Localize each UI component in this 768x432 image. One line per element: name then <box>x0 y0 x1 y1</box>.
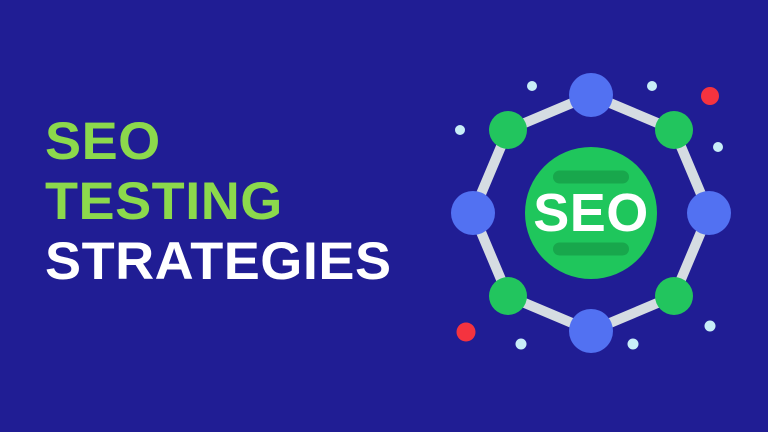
accent-dot-blue-top-right <box>647 81 657 91</box>
accent-dot-blue-right <box>713 142 723 152</box>
node-right <box>687 191 731 235</box>
headline-block: SEO TESTING STRATEGIES <box>45 112 445 292</box>
headline-line-3: STRATEGIES <box>45 232 453 292</box>
headline-line-2: TESTING <box>45 172 453 232</box>
seo-core-bar-top <box>553 171 629 184</box>
node-lower-right <box>655 277 693 315</box>
headline-line-1: SEO <box>45 112 453 172</box>
banner-canvas: SEO TESTING STRATEGIES SEO <box>0 0 768 432</box>
node-lower-left <box>489 277 527 315</box>
accent-dot-blue-bottom-right <box>705 321 716 332</box>
seo-core-group: SEO <box>525 147 657 279</box>
seo-core-bar-bottom <box>553 243 629 256</box>
accent-dot-blue-bottom-mid <box>628 339 639 350</box>
node-upper-right <box>655 111 693 149</box>
seo-network-octagon-illustration: SEO <box>432 54 750 372</box>
accent-dot-blue-bottom-left <box>516 339 527 350</box>
accent-dot-blue-top-left <box>527 81 537 91</box>
accent-dot-red-top-right <box>701 87 719 105</box>
accent-dot-red-bottom-left <box>457 323 476 342</box>
accent-dot-blue-left <box>455 125 465 135</box>
node-upper-left <box>489 111 527 149</box>
node-left <box>451 191 495 235</box>
node-bottom <box>569 309 613 353</box>
seo-core-label: SEO <box>533 183 649 243</box>
node-top <box>569 73 613 117</box>
